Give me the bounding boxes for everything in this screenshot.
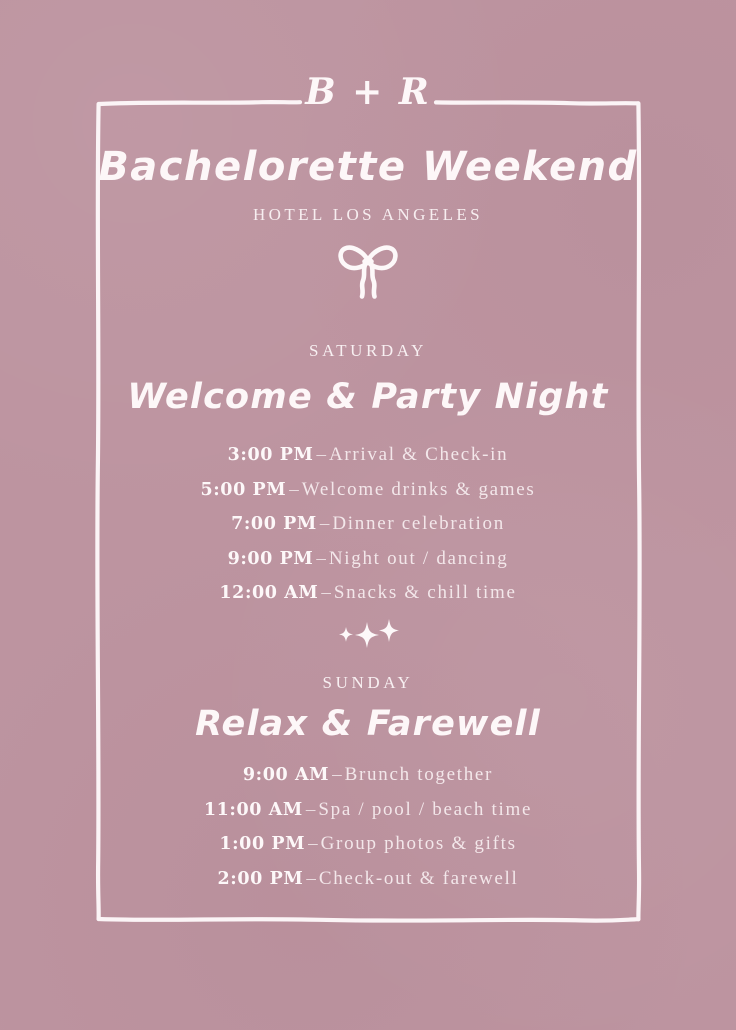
schedule-dash: – <box>303 868 319 889</box>
itinerary-card: B + R Bachelorette Weekend HOTEL LOS ANG… <box>0 0 736 1030</box>
schedule-dash: – <box>303 799 319 820</box>
schedule-description: Check-out & farewell <box>319 868 519 889</box>
schedule-dash: – <box>318 582 334 603</box>
schedule-time: 12:00 AM <box>219 583 318 603</box>
bow-icon <box>332 240 404 302</box>
schedule-description: Spa / pool / beach time <box>318 799 532 820</box>
venue-label: HOTEL LOS ANGELES <box>0 205 736 225</box>
sparkle-divider <box>0 618 736 650</box>
day-label-saturday: SATURDAY <box>0 341 736 361</box>
bow-ornament <box>0 240 736 302</box>
schedule-item: 3:00 PM–Arrival & Check-in <box>0 438 736 473</box>
schedule-time: 7:00 PM <box>231 514 317 534</box>
schedule-time: 2:00 PM <box>218 869 304 889</box>
schedule-time: 11:00 AM <box>204 800 303 820</box>
schedule-description: Dinner celebration <box>332 513 505 534</box>
schedule-item: 9:00 AM–Brunch together <box>0 758 736 793</box>
schedule-item: 1:00 PM–Group photos & gifts <box>0 827 736 862</box>
day-label-sunday: SUNDAY <box>0 673 736 693</box>
schedule-description: Arrival & Check-in <box>329 444 508 465</box>
schedule-item: 9:00 PM–Night out / dancing <box>0 542 736 577</box>
schedule-dash: – <box>313 548 329 569</box>
schedule-time: 5:00 PM <box>200 480 286 500</box>
schedule-list-sunday: 9:00 AM–Brunch together 11:00 AM–Spa / p… <box>0 758 736 896</box>
schedule-item: 2:00 PM–Check-out & farewell <box>0 862 736 897</box>
schedule-item: 5:00 PM–Welcome drinks & games <box>0 473 736 508</box>
schedule-dash: – <box>313 444 329 465</box>
schedule-item: 7:00 PM–Dinner celebration <box>0 507 736 542</box>
schedule-dash: – <box>286 479 302 500</box>
page-title: Bachelorette Weekend <box>0 146 736 189</box>
schedule-description: Group photos & gifts <box>321 833 517 854</box>
schedule-list-saturday: 3:00 PM–Arrival & Check-in 5:00 PM–Welco… <box>0 438 736 611</box>
sparkles-icon <box>333 618 403 650</box>
schedule-time: 3:00 PM <box>228 445 314 465</box>
schedule-description: Night out / dancing <box>329 548 509 569</box>
schedule-dash: – <box>317 513 333 534</box>
schedule-description: Brunch together <box>345 764 493 785</box>
schedule-description: Snacks & chill time <box>334 582 517 603</box>
schedule-item: 11:00 AM–Spa / pool / beach time <box>0 793 736 828</box>
schedule-time: 1:00 PM <box>219 834 305 854</box>
schedule-item: 12:00 AM–Snacks & chill time <box>0 576 736 611</box>
day-title-saturday: Welcome & Party Night <box>0 378 736 417</box>
day-title-sunday: Relax & Farewell <box>0 705 736 744</box>
schedule-description: Welcome drinks & games <box>302 479 536 500</box>
schedule-dash: – <box>305 833 321 854</box>
schedule-dash: – <box>329 764 345 785</box>
monogram: B + R <box>0 74 736 110</box>
schedule-time: 9:00 AM <box>243 765 329 785</box>
schedule-time: 9:00 PM <box>228 549 314 569</box>
